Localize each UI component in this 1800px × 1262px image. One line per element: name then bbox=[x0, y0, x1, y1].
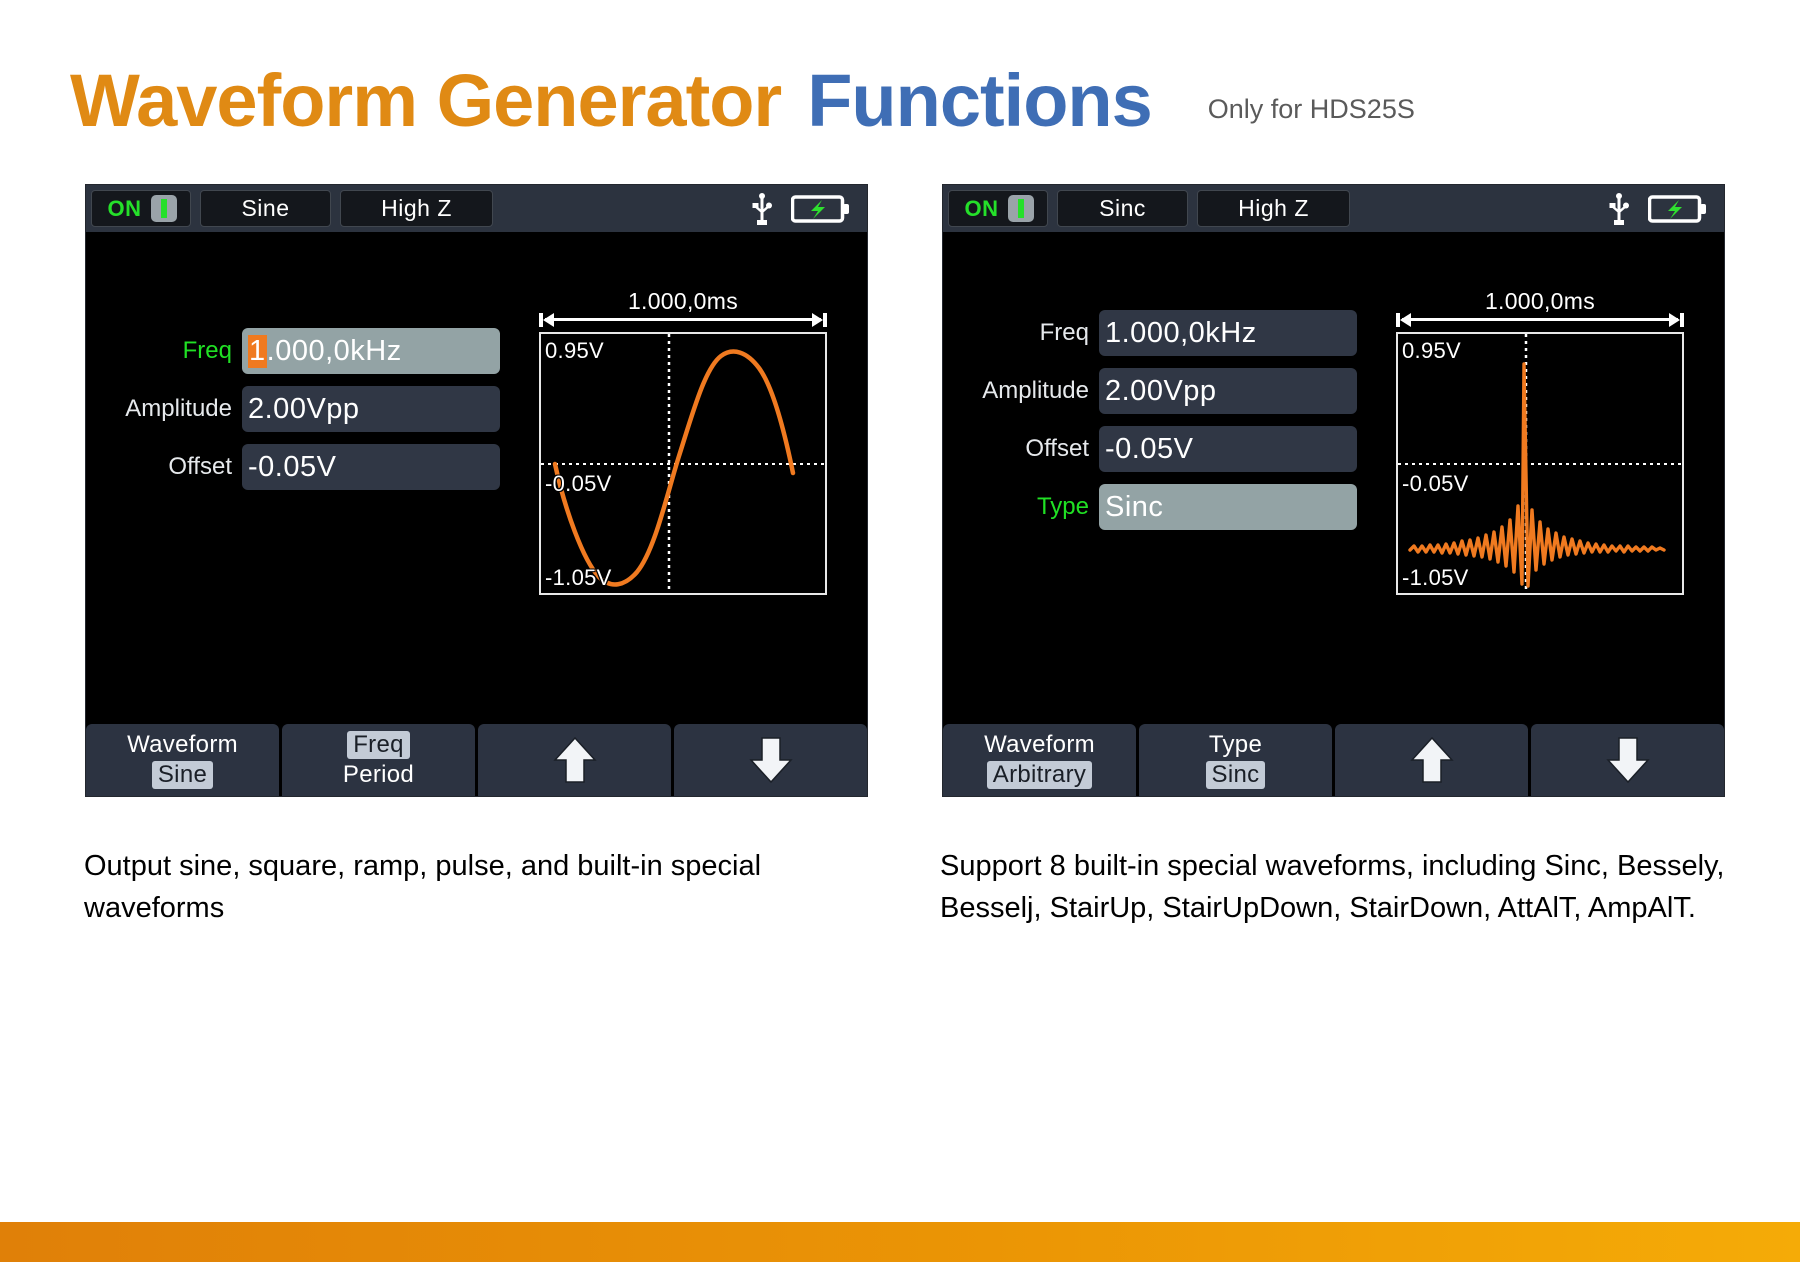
time-span-label: 1.000,0ms bbox=[539, 288, 827, 314]
time-span-label: 1.000,0ms bbox=[1396, 288, 1684, 314]
param-value-freq[interactable]: 1.000,0kHz bbox=[242, 328, 500, 374]
battery-charging-icon bbox=[791, 193, 851, 225]
softkey-period-label: Period bbox=[343, 761, 414, 789]
plot-tick-bottom: -1.05V bbox=[1402, 565, 1469, 591]
plot-tick-top: 0.95V bbox=[1402, 338, 1461, 364]
softkey-freq-label: Freq bbox=[347, 731, 410, 759]
impedance-button[interactable]: High Z bbox=[1197, 190, 1350, 227]
bottom-accent-bar bbox=[0, 1222, 1800, 1262]
softkey-freq-period[interactable]: Freq Period bbox=[282, 724, 475, 796]
plot-tick-mid: -0.05V bbox=[545, 471, 612, 497]
cursor-digit: 1 bbox=[248, 335, 267, 368]
softkey-waveform[interactable]: Waveform Arbitrary bbox=[943, 724, 1136, 796]
screen-body: Freq 1.000,0kHz Amplitude 2.00Vpp Offset… bbox=[86, 232, 867, 724]
softkey-up-arrow[interactable] bbox=[1335, 724, 1528, 796]
softkey-type-value: Sinc bbox=[1206, 761, 1266, 789]
output-toggle-icon bbox=[1008, 195, 1034, 222]
param-row-freq[interactable]: Freq 1.000,0kHz bbox=[100, 328, 500, 374]
time-span-indicator: 1.000,0ms bbox=[1396, 288, 1684, 332]
param-value-type[interactable]: Sinc bbox=[1099, 484, 1357, 530]
param-label-type: Type bbox=[957, 493, 1099, 521]
waveform-mode-button[interactable]: Sinc bbox=[1057, 190, 1188, 227]
status-icons bbox=[751, 193, 857, 225]
softkey-waveform-value: Arbitrary bbox=[987, 761, 1092, 789]
waveform-preview-sine: 1.000,0ms 0.95V -0.05V -1.05V bbox=[539, 288, 827, 595]
plot-tick-top: 0.95V bbox=[545, 338, 604, 364]
waveform-mode-button[interactable]: Sine bbox=[200, 190, 331, 227]
arrow-down-icon bbox=[745, 734, 797, 786]
status-bar: ON Sine High Z bbox=[86, 185, 867, 232]
softkey-type[interactable]: Type Sinc bbox=[1139, 724, 1332, 796]
param-value-freq[interactable]: 1.000,0kHz bbox=[1099, 310, 1357, 356]
status-icons bbox=[1608, 193, 1714, 225]
output-toggle-button[interactable]: ON bbox=[948, 190, 1048, 227]
device-screen-sine: ON Sine High Z bbox=[85, 184, 868, 797]
output-state-label: ON bbox=[108, 196, 142, 222]
page-title: Waveform Generator Functions Only for HD… bbox=[70, 58, 1415, 143]
param-value-amplitude[interactable]: 2.00Vpp bbox=[1099, 368, 1357, 414]
status-bar: ON Sinc High Z bbox=[943, 185, 1724, 232]
title-main-text: Waveform Generator bbox=[70, 58, 781, 143]
param-row-freq[interactable]: Freq 1.000,0kHz bbox=[957, 310, 1357, 356]
softkey-down-arrow[interactable] bbox=[674, 724, 867, 796]
param-value-offset[interactable]: -0.05V bbox=[1099, 426, 1357, 472]
plot-tick-mid: -0.05V bbox=[1402, 471, 1469, 497]
soft-key-menu: Waveform Sine Freq Period bbox=[86, 724, 867, 796]
output-state-label: ON bbox=[965, 196, 999, 222]
arrow-up-icon bbox=[549, 734, 601, 786]
device-screen-sinc: ON Sinc High Z bbox=[942, 184, 1725, 797]
parameter-list: Freq 1.000,0kHz Amplitude 2.00Vpp Offset… bbox=[100, 328, 500, 490]
slide-page: Waveform Generator Functions Only for HD… bbox=[0, 0, 1800, 1262]
soft-key-menu: Waveform Arbitrary Type Sinc bbox=[943, 724, 1724, 796]
param-row-offset[interactable]: Offset -0.05V bbox=[100, 444, 500, 490]
arrow-up-icon bbox=[1406, 734, 1458, 786]
span-arrow-icon bbox=[539, 313, 827, 327]
param-value-freq-rest: .000,0kHz bbox=[267, 335, 402, 368]
output-toggle-button[interactable]: ON bbox=[91, 190, 191, 227]
param-label-amplitude: Amplitude bbox=[100, 395, 242, 423]
softkey-waveform-title: Waveform bbox=[127, 731, 238, 759]
param-label-offset: Offset bbox=[100, 453, 242, 481]
waveform-preview-sinc: 1.000,0ms 0.95V -0.05V -1.05V bbox=[1396, 288, 1684, 595]
plot-area-sinc: 0.95V -0.05V -1.05V bbox=[1396, 332, 1684, 595]
sine-trace-svg bbox=[541, 334, 825, 593]
softkey-down-arrow[interactable] bbox=[1531, 724, 1724, 796]
param-row-type[interactable]: Type Sinc bbox=[957, 484, 1357, 530]
output-toggle-icon bbox=[151, 195, 177, 222]
softkey-waveform-value: Sine bbox=[152, 761, 213, 789]
param-row-offset[interactable]: Offset -0.05V bbox=[957, 426, 1357, 472]
caption-right: Support 8 built-in special waveforms, in… bbox=[940, 845, 1740, 929]
param-row-amplitude[interactable]: Amplitude 2.00Vpp bbox=[100, 386, 500, 432]
softkey-waveform-title: Waveform bbox=[984, 731, 1095, 759]
title-note-text: Only for HDS25S bbox=[1208, 94, 1415, 125]
softkey-waveform[interactable]: Waveform Sine bbox=[86, 724, 279, 796]
param-value-offset[interactable]: -0.05V bbox=[242, 444, 500, 490]
softkey-type-title: Type bbox=[1209, 731, 1262, 759]
param-label-freq: Freq bbox=[957, 319, 1099, 347]
usb-icon bbox=[751, 193, 773, 225]
caption-left: Output sine, square, ramp, pulse, and bu… bbox=[84, 845, 874, 929]
param-row-amplitude[interactable]: Amplitude 2.00Vpp bbox=[957, 368, 1357, 414]
title-accent-text: Functions bbox=[807, 58, 1152, 143]
param-label-freq: Freq bbox=[100, 337, 242, 365]
plot-area-sine: 0.95V -0.05V -1.05V bbox=[539, 332, 827, 595]
usb-icon bbox=[1608, 193, 1630, 225]
battery-charging-icon bbox=[1648, 193, 1708, 225]
param-value-amplitude[interactable]: 2.00Vpp bbox=[242, 386, 500, 432]
span-arrow-icon bbox=[1396, 313, 1684, 327]
softkey-up-arrow[interactable] bbox=[478, 724, 671, 796]
plot-tick-bottom: -1.05V bbox=[545, 565, 612, 591]
sinc-trace-svg bbox=[1398, 334, 1682, 593]
impedance-button[interactable]: High Z bbox=[340, 190, 493, 227]
screen-body: Freq 1.000,0kHz Amplitude 2.00Vpp Offset… bbox=[943, 232, 1724, 724]
param-label-offset: Offset bbox=[957, 435, 1099, 463]
arrow-down-icon bbox=[1602, 734, 1654, 786]
parameter-list: Freq 1.000,0kHz Amplitude 2.00Vpp Offset… bbox=[957, 310, 1357, 530]
time-span-indicator: 1.000,0ms bbox=[539, 288, 827, 332]
param-label-amplitude: Amplitude bbox=[957, 377, 1099, 405]
